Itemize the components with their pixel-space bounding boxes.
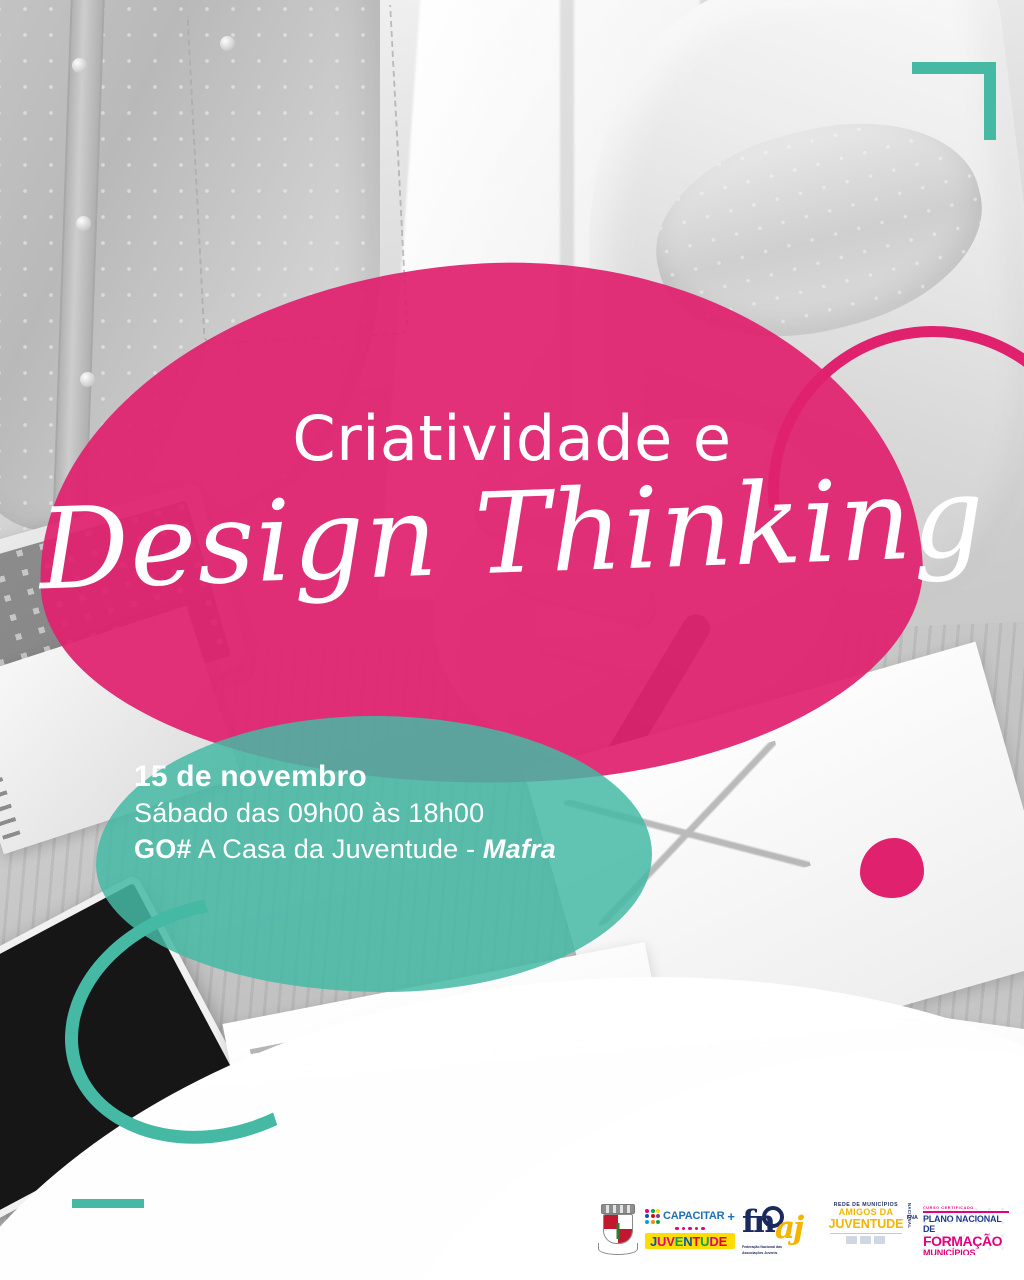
capacitar-row: CAPACITAR + xyxy=(645,1209,735,1224)
rede-line-3: JUVENTUDE xyxy=(821,1218,911,1231)
rede-divider xyxy=(830,1233,902,1234)
plano-lockup: CURSO CERTIFICADO PLANO NACIONAL DE FORM… xyxy=(918,1203,1014,1255)
capacitar-dot-rule xyxy=(645,1227,735,1231)
shirt-button xyxy=(80,372,95,387)
notebook-spiral xyxy=(0,684,22,846)
rede-partner-icons xyxy=(821,1236,911,1244)
partner-icon xyxy=(874,1236,885,1244)
venue-prefix: GO# xyxy=(134,834,192,864)
rede-lockup: REDE DE MUNICÍPIOS AMIGOS DA JUVENTUDE N… xyxy=(821,1202,911,1256)
title-line-2: Design Thinking xyxy=(0,458,1024,611)
partner-icon xyxy=(860,1236,871,1244)
logo-municipio-mafra xyxy=(598,1203,638,1255)
event-venue: GO# A Casa da Juventude - Mafra xyxy=(134,832,556,867)
shield xyxy=(603,1214,633,1244)
logo-plano-nacional-formacao: CURSO CERTIFICADO PLANO NACIONAL DE FORM… xyxy=(918,1203,1014,1255)
poster-title: Criatividade e Design Thinking xyxy=(0,408,1024,594)
venue-city: Mafra xyxy=(483,834,556,864)
corner-bracket-icon xyxy=(912,62,996,140)
logo-rede-municipios: REDE DE MUNICÍPIOS AMIGOS DA JUVENTUDE N… xyxy=(821,1202,911,1256)
fnaj-mark-tail: aj xyxy=(775,1210,802,1246)
fnaj-lockup: fn aj Federação Nacional das Associações… xyxy=(742,1202,814,1256)
event-time: Sábado das 09h00 às 18h00 xyxy=(134,796,556,831)
confetti-dots-icon xyxy=(645,1209,660,1224)
capacitar-word: CAPACITAR xyxy=(663,1211,724,1222)
logo-fnaj: fn aj Federação Nacional das Associações… xyxy=(742,1202,814,1256)
logo-strip: CAPACITAR + JUVENTUDE fn aj Federação Na… xyxy=(598,1198,1008,1260)
mural-crown xyxy=(601,1204,635,1214)
capacitar-plus: + xyxy=(727,1210,735,1223)
shirt-button xyxy=(76,216,91,231)
capacitar-lockup: CAPACITAR + JUVENTUDE xyxy=(645,1209,735,1250)
network-pattern-icon xyxy=(918,1203,1014,1255)
corner-bracket-vertical xyxy=(984,62,996,140)
dot-pink-icon xyxy=(860,838,924,898)
logo-capacitar-juventude: CAPACITAR + JUVENTUDE xyxy=(645,1209,735,1250)
juventude-word: JUVENTUDE xyxy=(645,1233,735,1249)
coat-of-arms-ribbon xyxy=(598,1243,638,1255)
event-details: 15 de novembro Sábado das 09h00 às 18h00… xyxy=(134,758,556,867)
event-date: 15 de novembro xyxy=(134,758,556,796)
shirt-button xyxy=(72,58,87,73)
shield-cross xyxy=(617,1223,620,1239)
fnaj-tagline: Federação Nacional das Associações Juven… xyxy=(742,1245,802,1256)
event-poster: Criatividade e Design Thinking 15 de nov… xyxy=(0,0,1024,1280)
venue-name: A Casa da Juventude - xyxy=(192,834,483,864)
coat-of-arms-icon xyxy=(598,1203,638,1255)
dash-teal-icon xyxy=(72,1199,144,1208)
partner-icon xyxy=(846,1236,857,1244)
shield-quarter xyxy=(618,1229,632,1243)
